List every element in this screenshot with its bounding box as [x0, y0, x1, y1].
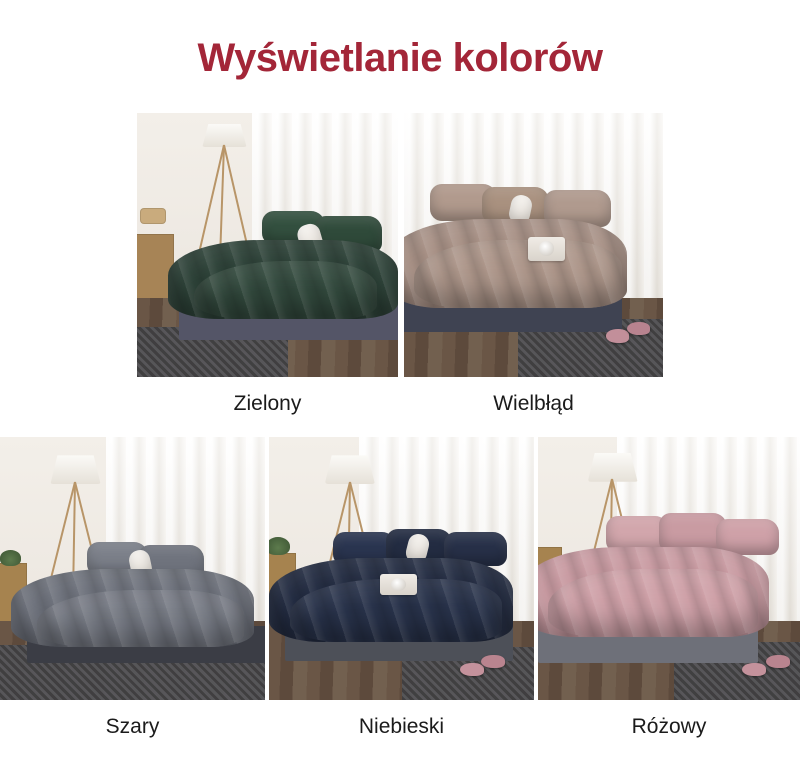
bedroom-scene-zielony: [137, 113, 398, 377]
color-tile-caption-szary: Szary: [0, 716, 265, 737]
bedroom-scene-rozowy: [538, 437, 800, 700]
color-tile-zielony[interactable]: [137, 113, 398, 377]
plant: [0, 550, 21, 566]
bedroom-scene-wielblad: [404, 113, 663, 377]
color-tile-caption-rozowy: Różowy: [538, 716, 800, 737]
duvet-fold: [194, 261, 377, 319]
lamp-shade-icon: [325, 455, 375, 484]
slipper: [481, 655, 505, 668]
color-tile-rozowy[interactable]: [538, 437, 800, 700]
nightstand-lamp: [140, 208, 166, 224]
color-tile-wielblad[interactable]: [404, 113, 663, 377]
bedroom-scene-szary: [0, 437, 265, 700]
page-title: Wyświetlanie kolorów: [0, 36, 800, 80]
color-tile-szary[interactable]: [0, 437, 265, 700]
plant: [269, 537, 290, 555]
color-display-page: Wyświetlanie kolorów Zielony: [0, 0, 800, 769]
slipper: [742, 663, 766, 676]
color-tile-caption-wielblad: Wielbłąd: [404, 393, 663, 414]
lamp-shade-icon: [588, 453, 638, 482]
lamp-shade-icon: [50, 455, 100, 484]
color-tile-caption-niebieski: Niebieski: [269, 716, 534, 737]
tray: [528, 237, 564, 261]
slipper: [627, 322, 650, 335]
duvet-fold: [548, 569, 758, 637]
slipper: [766, 655, 790, 668]
color-tile-niebieski[interactable]: [269, 437, 534, 700]
duvet-fold: [37, 590, 244, 648]
color-tile-caption-zielony: Zielony: [137, 393, 398, 414]
tray: [380, 574, 417, 595]
bedroom-scene-niebieski: [269, 437, 534, 700]
duvet-fold: [414, 240, 621, 309]
slipper: [460, 663, 484, 676]
slipper: [606, 329, 629, 342]
